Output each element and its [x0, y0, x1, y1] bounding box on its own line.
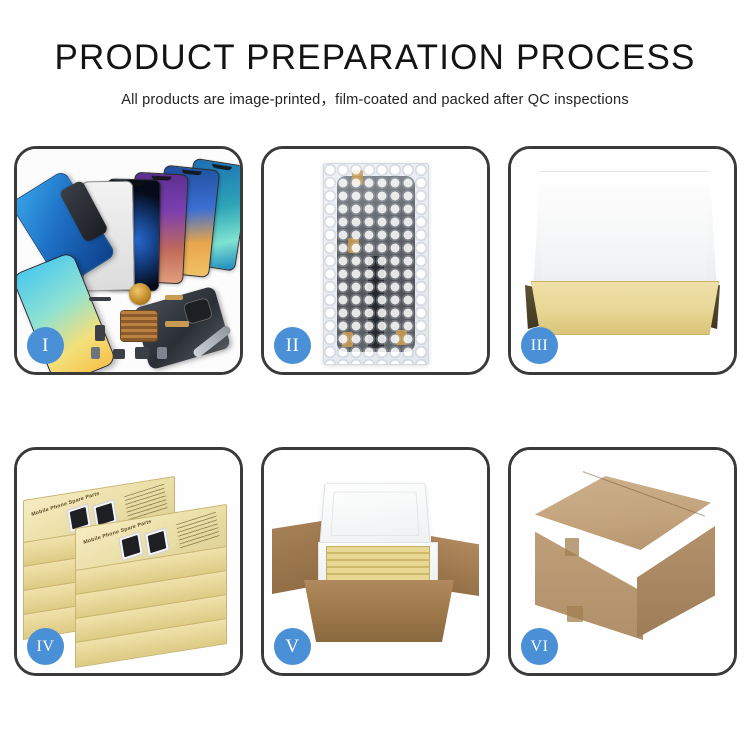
step-badge-3: III: [521, 327, 558, 364]
ribbon-part: [165, 321, 189, 327]
vibrator-part: [113, 349, 125, 359]
process-step-6[interactable]: VI: [508, 447, 737, 676]
page-title: PRODUCT PREPARATION PROCESS: [0, 40, 750, 77]
connector-grid-icon: [121, 311, 157, 341]
carton-body: [304, 580, 454, 642]
box-product-image: [144, 527, 169, 557]
process-step-1[interactable]: I: [14, 146, 243, 375]
foam-sheet: [541, 207, 707, 289]
sim-tray-part: [157, 347, 167, 359]
step-badge-5: V: [274, 628, 311, 665]
box-product-image: [118, 531, 143, 561]
small-parts-group: [89, 285, 229, 372]
gold-tape-tab: [342, 332, 353, 347]
camera-part: [95, 325, 105, 341]
page-subtitle: All products are image-printed，film-coat…: [0, 88, 750, 109]
header: PRODUCT PREPARATION PROCESS All products…: [0, 0, 750, 109]
process-step-5[interactable]: V: [261, 447, 490, 676]
gold-tape-tab: [348, 238, 359, 253]
gold-tape-tab: [396, 330, 407, 345]
button-part: [91, 347, 100, 359]
step-badge-2: II: [274, 327, 311, 364]
step-badge-1: I: [27, 327, 64, 364]
carton-tape-tab: [567, 606, 583, 622]
screen-flex-cable: [368, 256, 384, 348]
shipping-carton: [527, 476, 719, 648]
carton-tape-tab: [565, 538, 579, 556]
foam-box-lid: [319, 483, 431, 547]
process-step-3[interactable]: III: [508, 146, 737, 375]
flex-cable-part: [89, 297, 111, 301]
kraft-box-base: [531, 281, 719, 335]
step-badge-6: VI: [521, 628, 558, 665]
process-step-2[interactable]: II: [261, 146, 490, 375]
box-spec-lines: [176, 512, 220, 550]
speaker-coil-icon: [129, 283, 151, 305]
bubble-wrap-bag: [323, 163, 429, 365]
process-step-4[interactable]: Mobile Phone Spare Parts Mobile Phone Sp…: [14, 447, 243, 676]
process-grid: I II: [14, 146, 737, 676]
step-badge-4: IV: [27, 628, 64, 665]
yellow-boxes-inside: [326, 546, 430, 584]
gold-tape-tab: [352, 170, 363, 185]
receiver-part: [135, 347, 149, 359]
gold-flex-part: [165, 295, 183, 300]
